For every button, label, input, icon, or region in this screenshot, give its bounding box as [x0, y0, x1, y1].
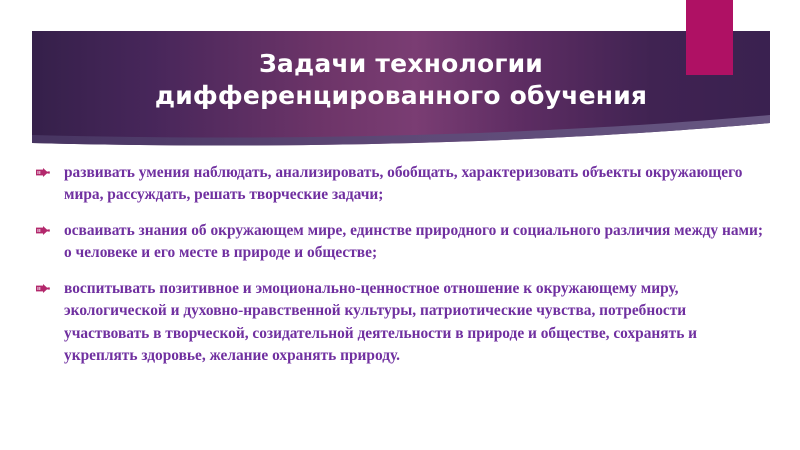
arrow-bullet-icon — [36, 162, 56, 177]
bullet-text: развивать умения наблюдать, анализироват… — [64, 162, 764, 207]
arrow-bullet-icon — [36, 278, 56, 293]
bullet-item: воспитывать позитивное и эмоционально-це… — [36, 278, 764, 368]
bullet-list: развивать умения наблюдать, анализироват… — [36, 162, 764, 368]
bullet-text: осваивать знания об окружающем мире, еди… — [64, 220, 764, 265]
header-banner — [32, 31, 770, 147]
accent-bar — [686, 0, 733, 75]
arrow-bullet-icon — [36, 220, 56, 235]
bullet-item: развивать умения наблюдать, анализироват… — [36, 162, 764, 207]
bullet-text: воспитывать позитивное и эмоционально-це… — [64, 278, 764, 368]
presentation-slide: Задачи технологии дифференцированного об… — [0, 0, 800, 450]
bullet-item: осваивать знания об окружающем мире, еди… — [36, 220, 764, 265]
